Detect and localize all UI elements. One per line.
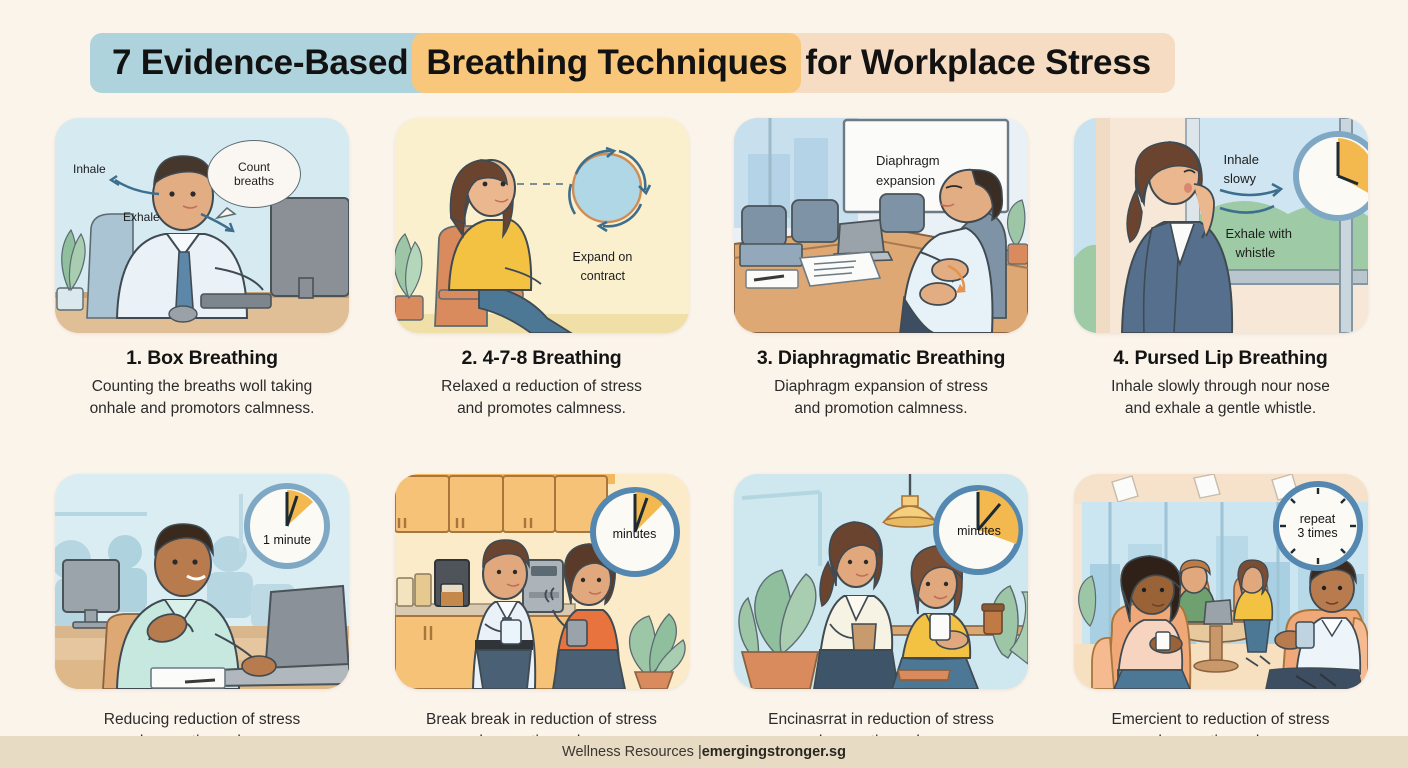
illustration-lounge-group: repeat 3 times <box>1074 474 1368 689</box>
card-body-8a: Emercient to reduction of stress <box>1074 709 1368 731</box>
infographic-page: 7 Evidence-Based Breathing Techniques fo… <box>0 0 1408 768</box>
card-body-5a: Reducing reduction of stress <box>55 709 349 731</box>
page-title: 7 Evidence-Based Breathing Techniques fo… <box>90 33 1175 93</box>
label-inhale-slowy-2: slowy <box>1224 171 1257 186</box>
title-text-3: for Workplace Stress <box>805 43 1151 83</box>
card-body-1a: Counting the breaths woll taking <box>55 376 349 398</box>
card-heading-3: 3. Diaphragmatic Breathing <box>734 347 1028 370</box>
title-text-1: 7 Evidence-Based <box>112 43 408 83</box>
caption-2: 2. 4-7-8 Breathing Relaxed ɑ reduction o… <box>395 347 689 420</box>
illustration-diaphragmatic-breathing: Diaphragm expansion <box>734 118 1028 333</box>
label-exhale-whistle-2: whistle <box>1236 245 1276 260</box>
card-body-3a: Diaphragm expansion of stress <box>734 376 1028 398</box>
title-segment-3: for Workplace Stress <box>791 33 1175 93</box>
card-body-1b: onhale and promotors calmness. <box>55 398 349 420</box>
technique-grid: Inhale Exhale Count breaths 1. Box Breat… <box>0 118 1408 754</box>
illustration-cafe-conversation: minutes <box>734 474 1028 689</box>
label-inhale: Inhale <box>73 162 106 176</box>
technique-card-1[interactable]: Inhale Exhale Count breaths 1. Box Breat… <box>55 118 385 420</box>
caption-1: 1. Box Breathing Counting the breaths wo… <box>55 347 349 420</box>
technique-row-2: 1 minute Reducing reduction of stress an… <box>0 474 1408 754</box>
speech-bubble-count-breaths: Count breaths <box>207 140 301 208</box>
technique-row-1: Inhale Exhale Count breaths 1. Box Breat… <box>0 118 1408 420</box>
card-heading-1: 1. Box Breathing <box>55 347 349 370</box>
clock-label-8b: 3 times <box>1297 526 1337 540</box>
title-text-2: Breathing Techniques <box>426 43 787 83</box>
card-body-4a: Inhale slowly through nour nose <box>1074 376 1368 398</box>
card-body-2a: Relaxed ɑ reduction of stress <box>395 376 689 398</box>
technique-card-5[interactable]: 1 minute Reducing reduction of stress an… <box>55 474 385 754</box>
footer-bar: Wellness Resources | emergingstronger.sg <box>0 736 1408 768</box>
card-body-2b: and promotes calmness. <box>395 398 689 420</box>
label-exhale-whistle-1: Exhale with <box>1226 226 1292 241</box>
clock-label-7: minutes <box>957 524 1001 538</box>
technique-card-4[interactable]: Inhale slowy Exhale with whistle 4. Purs… <box>1074 118 1404 420</box>
card-body-3b: and promotion calmness. <box>734 398 1028 420</box>
technique-card-3[interactable]: Diaphragm expansion 3. Diaphragmatic Bre… <box>734 118 1064 420</box>
clock-label-6: minutes <box>613 527 657 541</box>
card-heading-4: 4. Pursed Lip Breathing <box>1074 347 1368 370</box>
card-body-7a: Encinasrrat in reduction of stress <box>734 709 1028 731</box>
label-inhale-slowy-1: Inhale <box>1224 152 1259 167</box>
title-segment-1: 7 Evidence-Based <box>90 33 422 93</box>
clock-label-8a: repeat <box>1300 512 1335 526</box>
caption-3: 3. Diaphragmatic Breathing Diaphragm exp… <box>734 347 1028 420</box>
illustration-kitchen-break: minutes <box>395 474 689 689</box>
card-heading-2: 2. 4-7-8 Breathing <box>395 347 689 370</box>
caption-4: 4. Pursed Lip Breathing Inhale slowly th… <box>1074 347 1368 420</box>
footer-label: Wellness Resources | <box>562 744 702 760</box>
technique-card-2[interactable]: Expand on contract 2. 4-7-8 Breathing Re… <box>395 118 725 420</box>
bubble-line-1: Count <box>238 160 270 174</box>
illustration-desk-minute-break: 1 minute <box>55 474 349 689</box>
illustration-box-breathing: Inhale Exhale Count breaths <box>55 118 349 333</box>
board-text-line-2: expansion <box>876 173 935 188</box>
technique-card-7[interactable]: minutes Encinasrrat in reduction of stre… <box>734 474 1064 754</box>
footer-site: emergingstronger.sg <box>702 744 846 760</box>
board-text-line-1: Diaphragm <box>876 153 940 168</box>
technique-card-6[interactable]: minutes Break break in reduction of stre… <box>395 474 725 754</box>
card-body-6a: Break break in reduction of stress <box>395 709 689 731</box>
label-expand-line-2: contract <box>581 269 625 284</box>
bubble-line-2: breaths <box>234 174 274 188</box>
label-expand-line-1: Expand on <box>573 250 633 265</box>
title-segment-2: Breathing Techniques <box>412 33 801 93</box>
clock-label-5: 1 minute <box>263 533 311 547</box>
technique-card-8[interactable]: repeat 3 times Emercient to reduction of… <box>1074 474 1404 754</box>
illustration-pursed-lip-breathing: Inhale slowy Exhale with whistle <box>1074 118 1368 333</box>
illustration-478-breathing: Expand on contract <box>395 118 689 333</box>
label-exhale: Exhale <box>123 210 160 224</box>
card-body-4b: and exhale a gentle whistle. <box>1074 398 1368 420</box>
